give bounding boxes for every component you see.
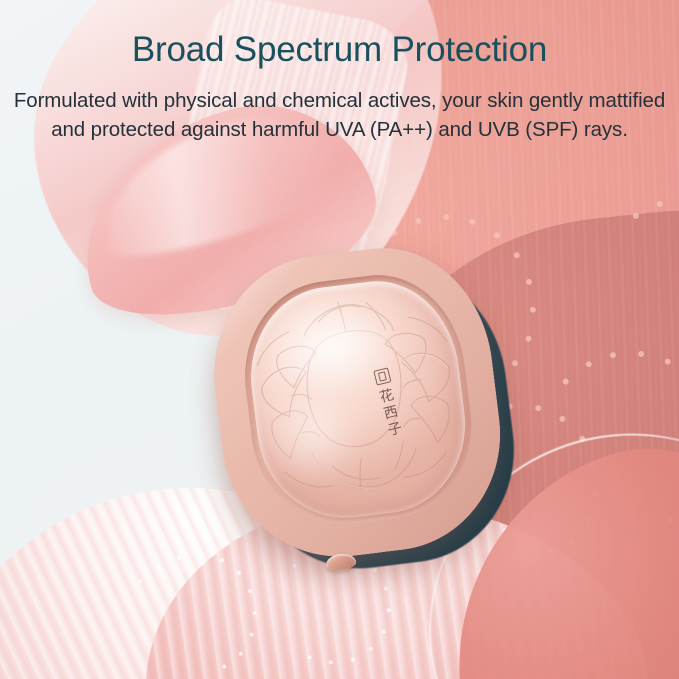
product-feature-banner: 花 西 子 Broad Spectrum Protection Formulat… — [0, 0, 679, 679]
subcopy-line-2: and protected against harmful UVA (PA++)… — [10, 115, 670, 144]
compact-domed-lid: 花 西 子 — [241, 272, 476, 528]
banner-text-block: Broad Spectrum Protection Formulated wit… — [0, 28, 679, 144]
subcopy-line-1: Formulated with physical and chemical ac… — [10, 86, 670, 115]
product-compact: 花 西 子 — [218, 252, 510, 582]
page-title: Broad Spectrum Protection — [0, 28, 679, 72]
banner-subcopy: Formulated with physical and chemical ac… — [10, 86, 670, 144]
